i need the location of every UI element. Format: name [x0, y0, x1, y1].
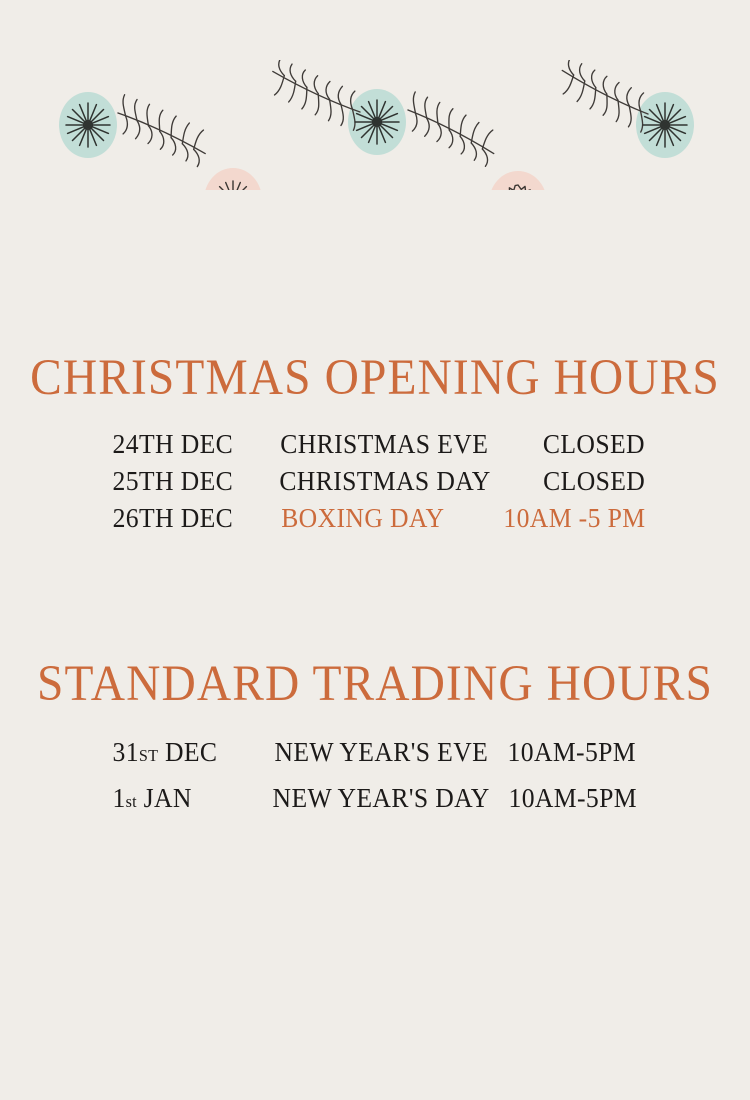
festive-garland-ornament: [0, 60, 750, 190]
row-date-ordinal: st: [126, 792, 137, 811]
teal-starburst-2: [355, 100, 399, 144]
row-occasion: NEW YEAR'S DAY: [267, 783, 490, 814]
christmas-opening-hours-heading: CHRISTMAS OPENING HOURS: [26, 352, 724, 405]
pine-sprig-3: [401, 91, 502, 167]
row-date-number: 1: [112, 783, 125, 813]
standard-trading-hours-heading: STANDARD TRADING HOURS: [26, 658, 724, 711]
row-date: 31ST DEC: [99, 737, 258, 768]
pine-sprig-1: [112, 94, 212, 167]
row-date-number: 31: [112, 737, 138, 767]
row-hours: CLOSED: [500, 466, 651, 497]
teal-starburst-1: [66, 103, 110, 147]
row-date-month: DEC: [158, 737, 217, 767]
blush-circle-2: [489, 171, 547, 190]
row-date-month: JAN: [137, 783, 192, 813]
teal-starburst-3: [643, 103, 687, 147]
row-date: 1st JAN: [99, 783, 257, 814]
row-hours: 10AM-5PM: [499, 783, 651, 814]
standard-hours-table: 31ST DEC NEW YEAR'S EVE 10AM-5PM 1st JAN…: [95, 711, 655, 829]
table-row: 26TH DEC BOXING DAY 10AM -5 PM: [95, 503, 655, 540]
row-occasion: CHRISTMAS EVE: [271, 429, 489, 460]
row-hours: 10AM-5PM: [498, 737, 651, 768]
table-row: 1st JAN NEW YEAR'S DAY 10AM-5PM: [95, 783, 655, 829]
row-date-ordinal: ST: [139, 746, 158, 765]
table-row: 25TH DEC CHRISTMAS DAY CLOSED: [95, 466, 655, 503]
row-date: 25TH DEC: [99, 466, 259, 497]
row-occasion: BOXING DAY: [272, 503, 489, 534]
row-occasion: CHRISTMAS DAY: [269, 466, 490, 497]
table-row: 24TH DEC CHRISTMAS EVE CLOSED: [95, 429, 655, 466]
christmas-hours-table: 24TH DEC CHRISTMAS EVE CLOSED 25TH DEC C…: [95, 405, 655, 540]
table-row: 31ST DEC NEW YEAR'S EVE 10AM-5PM: [95, 737, 655, 783]
row-hours: CLOSED: [498, 429, 651, 460]
section-standard-trading-hours: STANDARD TRADING HOURS 31ST DEC NEW YEAR…: [0, 658, 750, 829]
row-occasion: NEW YEAR'S EVE: [269, 737, 488, 768]
row-date: 24TH DEC: [99, 429, 261, 460]
section-christmas-opening-hours: CHRISTMAS OPENING HOURS 24TH DEC CHRISTM…: [0, 352, 750, 540]
row-hours: 10AM -5 PM: [498, 503, 651, 534]
row-date: 26TH DEC: [99, 503, 261, 534]
poster-canvas: CHRISTMAS OPENING HOURS 24TH DEC CHRISTM…: [0, 0, 750, 1100]
